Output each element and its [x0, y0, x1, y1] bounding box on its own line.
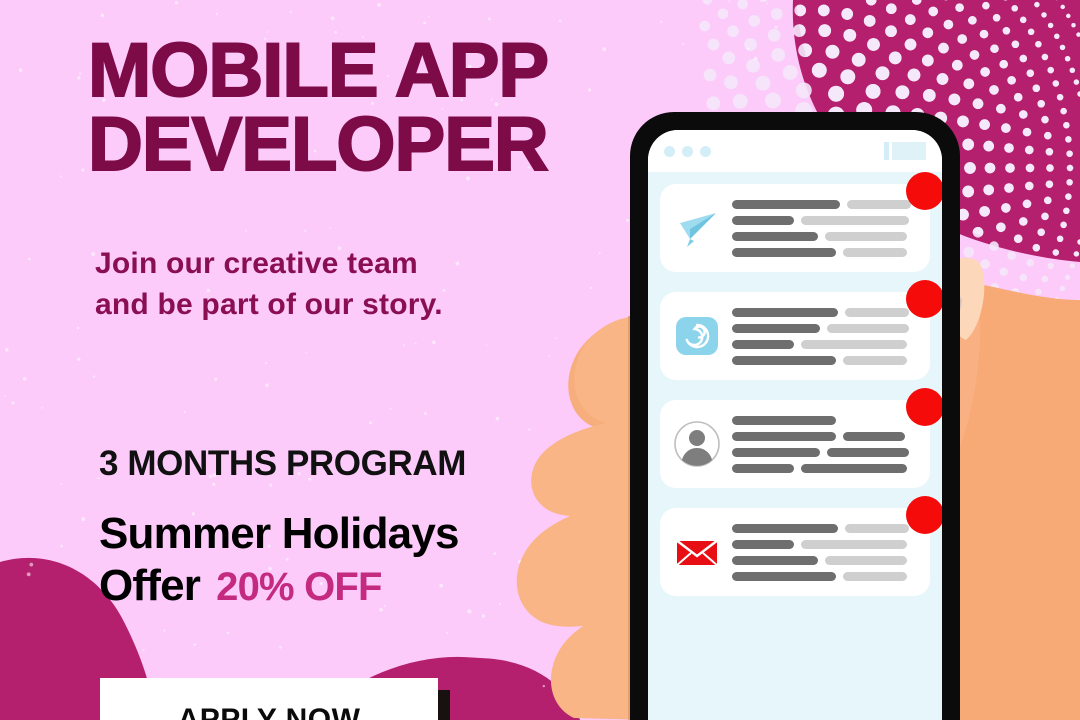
placeholder-bar — [732, 232, 818, 241]
placeholder-bar — [801, 540, 907, 549]
placeholder-bar — [732, 464, 794, 473]
notification-card[interactable] — [660, 292, 930, 380]
placeholder-bar — [825, 556, 907, 565]
placeholder-bar — [825, 232, 907, 241]
placeholder-bar — [732, 556, 818, 565]
placeholder-bar — [732, 340, 794, 349]
smartphone-mockup — [630, 112, 960, 720]
user-avatar-icon-wrap — [672, 419, 722, 469]
unread-badge[interactable] — [906, 172, 942, 210]
placeholder-line — [732, 448, 918, 457]
placeholder-bar — [847, 200, 911, 209]
placeholder-line — [732, 232, 918, 241]
placeholder-line — [732, 572, 918, 581]
offer-line-2: Offer — [99, 561, 200, 610]
notification-placeholder-lines — [722, 416, 918, 473]
unread-badge[interactable] — [906, 388, 942, 426]
notification-card[interactable] — [660, 400, 930, 488]
envelope-icon-wrap — [672, 527, 722, 577]
subheadline-line-2: and be part of our story. — [95, 284, 565, 325]
offer-line-2-wrap: Offer20% OFF — [99, 560, 569, 612]
notification-card[interactable] — [660, 508, 930, 596]
offer-line-1: Summer Holidays — [99, 509, 459, 558]
headline-line-1: MOBILE APP — [88, 28, 548, 113]
placeholder-bar — [843, 572, 907, 581]
placeholder-line — [732, 464, 918, 473]
discount-badge: 20% OFF — [216, 565, 382, 609]
placeholder-bar — [845, 524, 909, 533]
placeholder-bar — [732, 248, 836, 257]
placeholder-bar — [801, 340, 907, 349]
offer-block: Summer Holidays Offer20% OFF — [99, 508, 569, 612]
placeholder-bar — [732, 200, 840, 209]
subheadline: Join our creative team and be part of ou… — [95, 243, 565, 325]
placeholder-bar — [801, 464, 907, 473]
placeholder-line — [732, 524, 918, 533]
placeholder-line — [732, 200, 918, 209]
placeholder-line — [732, 356, 918, 365]
placeholder-bar — [732, 524, 838, 533]
placeholder-bar — [843, 248, 907, 257]
poster-canvas: MOBILE APP DEVELOPER Join our creative t… — [0, 0, 1080, 720]
apply-now-button-label: APPLY NOW — [178, 703, 361, 720]
placeholder-bar — [827, 448, 909, 457]
placeholder-line — [732, 416, 918, 425]
placeholder-line — [732, 432, 918, 441]
battery-icon — [884, 142, 926, 160]
placeholder-line — [732, 216, 918, 225]
placeholder-bar — [732, 356, 836, 365]
placeholder-bar — [801, 216, 909, 225]
page-title: MOBILE APP DEVELOPER — [88, 34, 648, 181]
placeholder-bar — [827, 324, 909, 333]
placeholder-bar — [732, 448, 820, 457]
notification-placeholder-lines — [722, 200, 918, 257]
placeholder-bar — [843, 432, 905, 441]
unread-badge[interactable] — [906, 496, 942, 534]
user-avatar-icon — [672, 419, 722, 469]
placeholder-line — [732, 248, 918, 257]
placeholder-bar — [732, 308, 838, 317]
placeholder-line — [732, 556, 918, 565]
envelope-icon — [672, 527, 722, 577]
notification-placeholder-lines — [722, 308, 918, 365]
notification-card[interactable] — [660, 184, 930, 272]
placeholder-line — [732, 540, 918, 549]
subheadline-line-1: Join our creative team — [95, 247, 418, 280]
program-duration-label: 3 MONTHS PROGRAM — [99, 444, 466, 484]
placeholder-bar — [732, 216, 794, 225]
placeholder-bar — [732, 572, 836, 581]
paper-plane-icon-wrap — [672, 203, 722, 253]
headline-line-2: DEVELOPER — [88, 108, 648, 182]
three-dots-icon — [664, 146, 711, 157]
apply-now-button[interactable]: APPLY NOW — [100, 678, 438, 720]
placeholder-bar — [732, 416, 836, 425]
placeholder-bar — [732, 324, 820, 333]
placeholder-line — [732, 308, 918, 317]
placeholder-bar — [845, 308, 909, 317]
notification-list — [648, 184, 942, 616]
placeholder-bar — [732, 540, 794, 549]
placeholder-bar — [843, 356, 907, 365]
unread-badge[interactable] — [906, 280, 942, 318]
notification-placeholder-lines — [722, 524, 918, 581]
phone-status-bar — [648, 130, 942, 172]
placeholder-line — [732, 324, 918, 333]
placeholder-line — [732, 340, 918, 349]
spiral-app-icon-wrap — [672, 311, 722, 361]
paper-plane-icon — [672, 203, 722, 253]
spiral-app-icon — [672, 311, 722, 361]
placeholder-bar — [732, 432, 836, 441]
phone-screen — [648, 130, 942, 720]
